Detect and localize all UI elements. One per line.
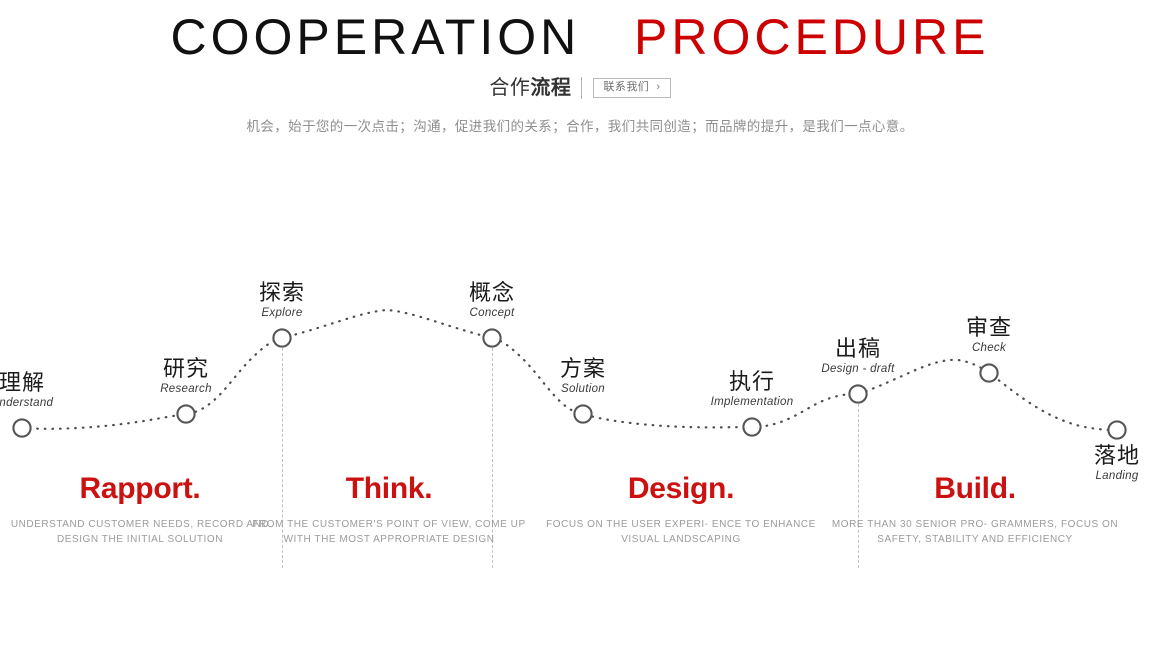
page-title: COOPERATION PROCEDURE	[0, 0, 1160, 67]
phase-title: Think.	[244, 472, 534, 507]
page-header: COOPERATION PROCEDURE 合作流程 联系我们 › 机会，始于您…	[0, 0, 1160, 137]
phase-description: UNDERSTAND CUSTOMER NEEDS, RECORD AND DE…	[0, 517, 285, 548]
phase-description: MORE THAN 30 SENIOR PRO- GRAMMERS, FOCUS…	[830, 517, 1120, 548]
journey-node-circle[interactable]	[177, 405, 194, 422]
subtitle-chinese-light: 合作	[489, 77, 530, 99]
contact-us-label: 联系我们	[603, 82, 649, 93]
journey-node-circles	[13, 329, 1125, 438]
phase-title: Rapport.	[0, 472, 285, 507]
journey-node-circle[interactable]	[273, 329, 290, 346]
process-journey-diagram: 理解Understand研究Research探索Explore概念Concept…	[0, 240, 1160, 490]
journey-node-circle[interactable]	[1108, 421, 1125, 438]
subtitle-chinese-bold: 流程	[530, 77, 571, 99]
chevron-right-icon: ›	[656, 82, 660, 93]
phase-description: FROM THE CUSTOMER'S POINT OF VIEW, COME …	[244, 517, 534, 548]
page-title-accent: PROCEDURE	[634, 9, 989, 65]
journey-node-circle[interactable]	[743, 418, 760, 435]
phase-block: Think.FROM THE CUSTOMER'S POINT OF VIEW,…	[244, 472, 534, 548]
journey-node-circle[interactable]	[13, 419, 30, 436]
phase-block: Design.FOCUS ON THE USER EXPERI- ENCE TO…	[536, 472, 826, 548]
phase-blocks: Rapport.UNDERSTAND CUSTOMER NEEDS, RECOR…	[0, 472, 1160, 587]
subtitle-divider	[581, 77, 582, 99]
subtitle-chinese: 合作流程	[489, 78, 571, 98]
phase-block: Build.MORE THAN 30 SENIOR PRO- GRAMMERS,…	[830, 472, 1120, 548]
journey-node-circle[interactable]	[483, 329, 500, 346]
phase-title: Build.	[830, 472, 1120, 507]
phase-title: Design.	[536, 472, 826, 507]
contact-us-button[interactable]: 联系我们 ›	[593, 78, 670, 98]
journey-node-circle[interactable]	[980, 364, 997, 381]
journey-node-circle[interactable]	[574, 405, 591, 422]
page-title-primary: COOPERATION	[171, 9, 581, 65]
journey-path-svg	[0, 240, 1160, 490]
journey-node-circle[interactable]	[849, 385, 866, 402]
subtitle-row: 合作流程 联系我们 ›	[0, 75, 1160, 101]
lead-description: 机会，始于您的一次点击；沟通，促进我们的关系；合作，我们共同创造；而品牌的提升，…	[0, 101, 1160, 137]
phase-description: FOCUS ON THE USER EXPERI- ENCE TO ENHANC…	[536, 517, 826, 548]
phase-block: Rapport.UNDERSTAND CUSTOMER NEEDS, RECOR…	[0, 472, 285, 548]
